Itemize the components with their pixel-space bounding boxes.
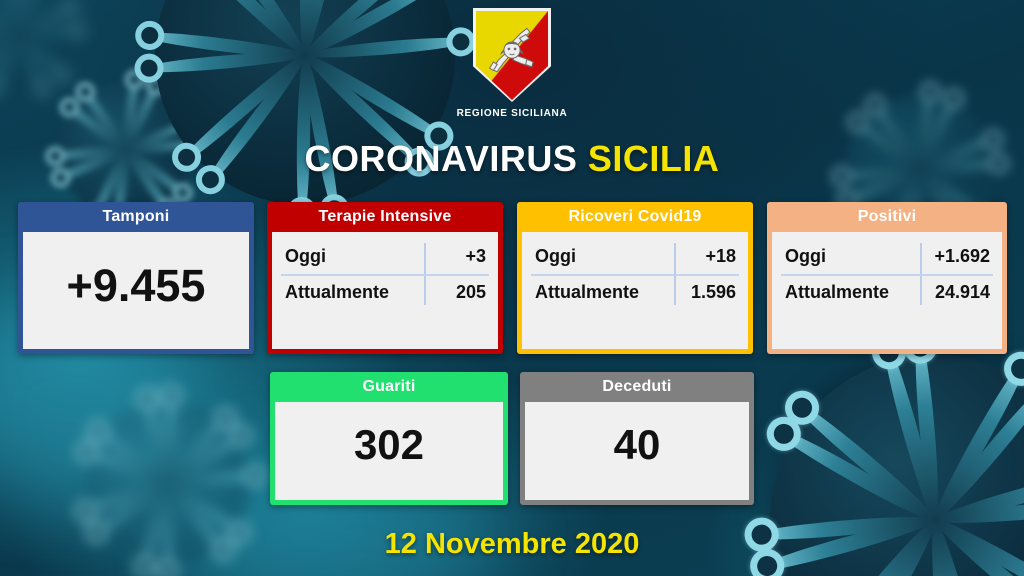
- row-label-oggi: Oggi: [522, 246, 705, 267]
- trinacria-icon: [481, 21, 543, 83]
- table-row: Oggi +1.692: [772, 238, 1002, 274]
- stat-card-ricoveri-covid19: Ricoveri Covid19 Oggi +18 Attualmente 1.…: [517, 202, 753, 354]
- card-panel-ricoveri-covid19: Oggi +18 Attualmente 1.596: [522, 232, 748, 349]
- row-value-attualmente: 205: [456, 282, 498, 303]
- report-date: 12 Novembre 2020: [0, 528, 1024, 561]
- card-title-terapie-intensive: Terapie Intensive: [267, 202, 503, 232]
- card-title-deceduti: Deceduti: [520, 372, 754, 402]
- table-row: Attualmente 24.914: [772, 274, 1002, 310]
- regione-siciliana-label: REGIONE SICILIANA: [0, 108, 1024, 119]
- row-label-attualmente: Attualmente: [272, 282, 456, 303]
- regione-siciliana-crest: REGIONE SICILIANA: [0, 8, 1024, 119]
- card-panel-deceduti: 40: [525, 402, 749, 500]
- card-title-guariti: Guariti: [270, 372, 508, 402]
- card-title-positivi: Positivi: [767, 202, 1007, 232]
- row-value-attualmente: 1.596: [691, 282, 748, 303]
- row-label-attualmente: Attualmente: [522, 282, 691, 303]
- card-value-tamponi: +9.455: [23, 260, 249, 312]
- title-accent: SICILIA: [588, 138, 720, 179]
- row-label-attualmente: Attualmente: [772, 282, 935, 303]
- row-label-oggi: Oggi: [772, 246, 934, 267]
- table-row: Oggi +18: [522, 238, 748, 274]
- card-value-guariti: 302: [275, 421, 503, 469]
- row-value-oggi: +18: [705, 246, 748, 267]
- card-panel-guariti: 302: [275, 402, 503, 500]
- page-title: CORONAVIRUS SICILIA: [0, 138, 1024, 180]
- title-primary: CORONAVIRUS: [305, 138, 578, 179]
- table-row: Oggi +3: [272, 238, 498, 274]
- stat-card-deceduti: Deceduti 40: [520, 372, 754, 505]
- row-value-oggi: +1.692: [934, 246, 1002, 267]
- card-panel-positivi: Oggi +1.692 Attualmente 24.914: [772, 232, 1002, 349]
- table-row: Attualmente 205: [272, 274, 498, 310]
- stat-table-ricoveri-covid19: Oggi +18 Attualmente 1.596: [522, 238, 748, 310]
- card-value-deceduti: 40: [525, 421, 749, 469]
- stat-table-positivi: Oggi +1.692 Attualmente 24.914: [772, 238, 1002, 310]
- card-panel-terapie-intensive: Oggi +3 Attualmente 205: [272, 232, 498, 349]
- sicily-trinacria-shield-icon: [473, 8, 551, 102]
- card-title-ricoveri-covid19: Ricoveri Covid19: [517, 202, 753, 232]
- card-title-tamponi: Tamponi: [18, 202, 254, 232]
- stat-card-positivi: Positivi Oggi +1.692 Attualmente 24.914: [767, 202, 1007, 354]
- stat-card-guariti: Guariti 302: [270, 372, 508, 505]
- stat-table-terapie-intensive: Oggi +3 Attualmente 205: [272, 238, 498, 310]
- table-row: Attualmente 1.596: [522, 274, 748, 310]
- card-panel-tamponi: +9.455: [23, 232, 249, 349]
- stat-card-terapie-intensive: Terapie Intensive Oggi +3 Attualmente 20…: [267, 202, 503, 354]
- row-value-oggi: +3: [465, 246, 498, 267]
- row-label-oggi: Oggi: [272, 246, 465, 267]
- stat-card-tamponi: Tamponi +9.455: [18, 202, 254, 354]
- row-value-attualmente: 24.914: [935, 282, 1002, 303]
